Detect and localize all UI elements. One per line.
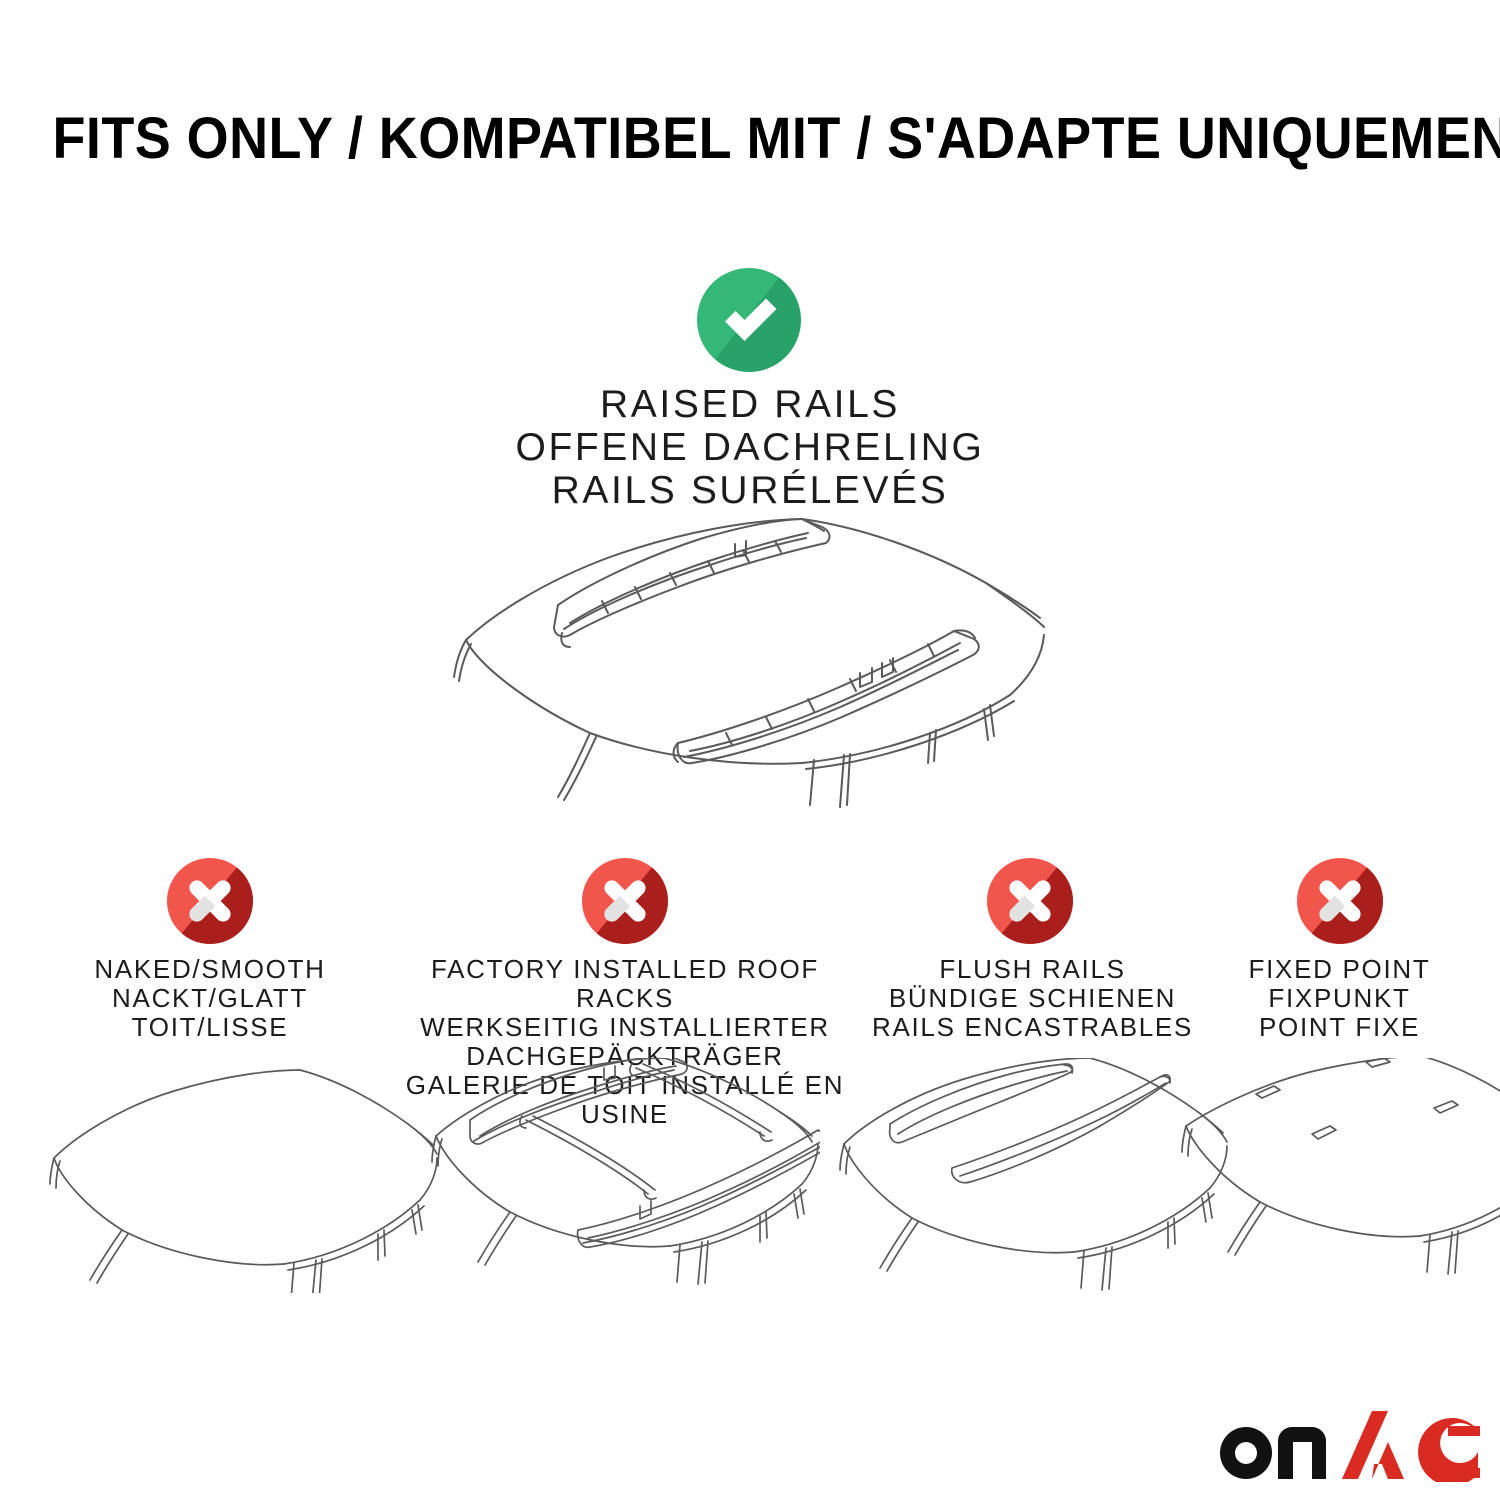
incompatible-label-en: FLUSH RAILS [845,955,1220,984]
compatible-label-en: RAISED RAILS [250,383,1250,426]
incompatible-label-en: FACTORY INSTALLED ROOF RACKS [395,955,855,1013]
car-roof-fixed-point-illustration [1170,1058,1500,1293]
omac-logo [1212,1408,1480,1482]
incompatible-label-fr: RAILS ENCASTRABLES [845,1013,1220,1042]
logo-letter-a [1342,1411,1404,1479]
incompatible-label-de: BÜNDIGE SCHIENEN [845,984,1220,1013]
check-glyph [697,268,801,372]
car-roof-naked-smooth-illustration [48,1058,438,1293]
car-roof-factory-rack-illustration [430,1058,820,1293]
compatible-label-de: OFFENE DACHRELING [250,426,1250,469]
incompatible-label-de: NACKT/GLATT [35,984,385,1013]
incompatible-label-group-fixed-point: FIXED POINT FIXPUNKT POINT FIXE [1182,955,1497,1042]
x-glyph [987,858,1073,944]
page-title: FITS ONLY / KOMPATIBEL MIT / S'ADAPTE UN… [53,108,1448,170]
incompatible-label-group-flush-rails: FLUSH RAILS BÜNDIGE SCHIENEN RAILS ENCAS… [845,955,1220,1042]
incompatible-label-en: FIXED POINT [1182,955,1497,984]
compatible-label-group: RAISED RAILS OFFENE DACHRELING RAILS SUR… [250,383,1250,512]
x-glyph [1297,858,1383,944]
incompatible-label-en: NAKED/SMOOTH [35,955,385,984]
x-glyph [582,858,668,944]
fitment-infographic: FITS ONLY / KOMPATIBEL MIT / S'ADAPTE UN… [0,0,1500,1500]
logo-letter-m [1278,1427,1326,1479]
car-roof-raised-rails-illustration [430,505,1070,815]
incompatible-label-de: FIXPUNKT [1182,984,1497,1013]
incompatible-label-fr: TOIT/LISSE [35,1013,385,1042]
x-glyph [167,858,253,944]
x-circle-icon-fixed-point [1297,858,1383,944]
x-circle-icon-factory-rack [582,858,668,944]
x-circle-icon-flush-rails [987,858,1073,944]
check-circle-icon [697,268,801,372]
incompatible-label-group-naked-smooth: NAKED/SMOOTH NACKT/GLATT TOIT/LISSE [35,955,385,1042]
incompatible-label-de-1: WERKSEITIG INSTALLIERTER [395,1013,855,1042]
x-circle-icon-naked-smooth [167,858,253,944]
incompatible-label-fr: POINT FIXE [1182,1013,1497,1042]
